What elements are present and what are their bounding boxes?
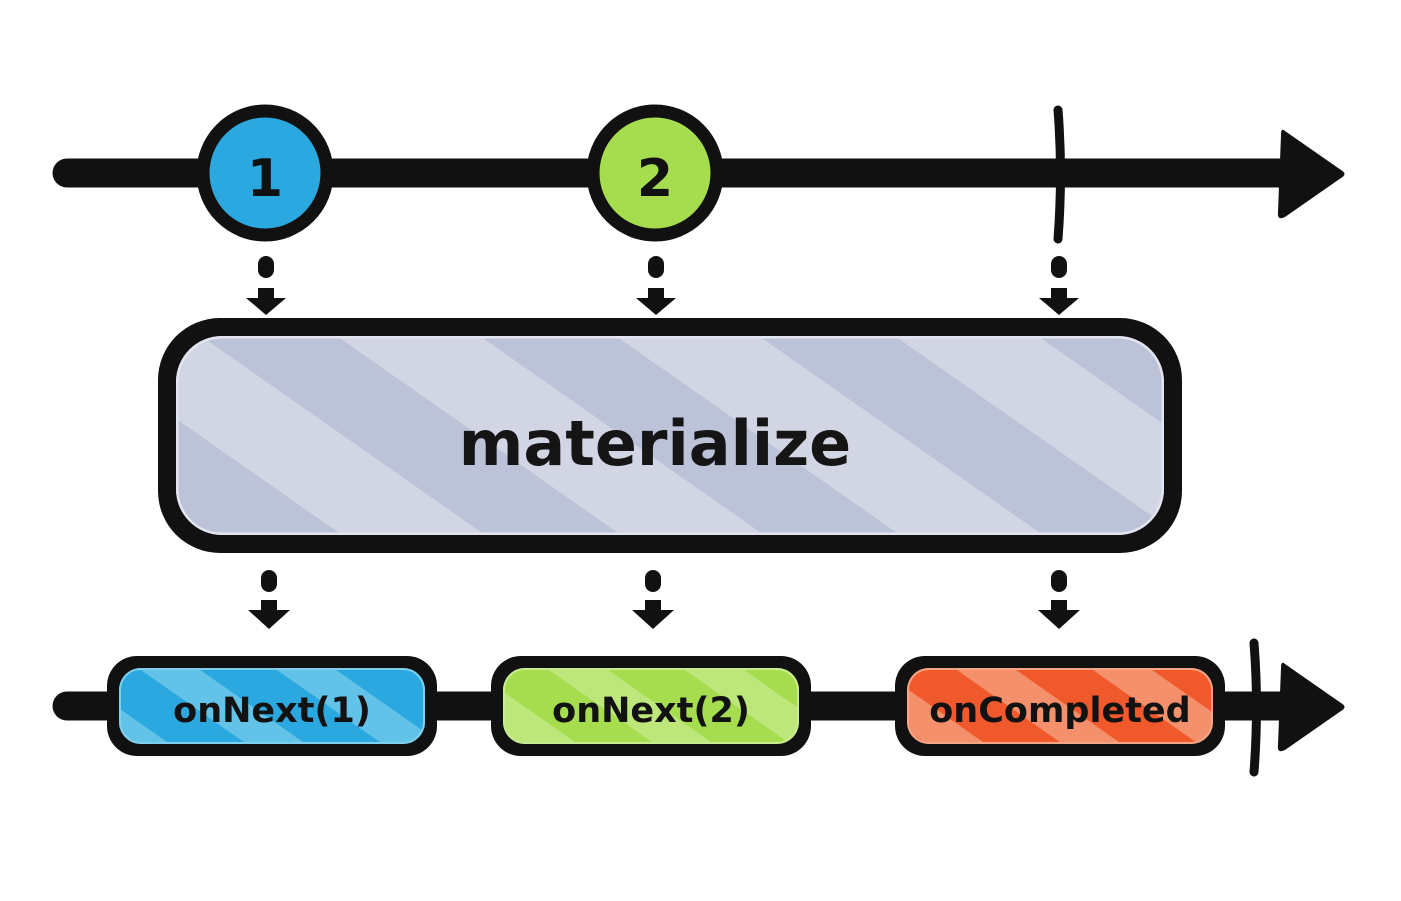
notification-box-1[interactable]: onNext(2)	[491, 656, 811, 756]
source-timeline-arrowhead	[1278, 130, 1345, 219]
input-connectors-group	[246, 256, 1079, 315]
notification-box-1-label: onNext(2)	[552, 691, 750, 731]
source-marble-2[interactable]: 2	[593, 111, 717, 235]
output-connector-3	[1038, 570, 1080, 629]
materialize-operator-box[interactable]: materialize	[158, 318, 1182, 553]
source-marble-2-label: 2	[637, 149, 673, 209]
output-connectors-group	[248, 570, 1080, 629]
source-complete-bar	[1058, 110, 1061, 239]
input-connector-1	[246, 256, 286, 315]
notification-box-0-label: onNext(1)	[173, 691, 371, 731]
result-timeline-group: onNext(1) onNext(2) onCompleted	[67, 643, 1345, 772]
notification-box-2[interactable]: onCompleted	[895, 656, 1225, 756]
source-timeline-group: 1 2	[67, 110, 1345, 239]
notification-box-2-label: onCompleted	[929, 691, 1190, 731]
input-connector-3	[1039, 256, 1079, 315]
notification-box-0[interactable]: onNext(1)	[107, 656, 437, 756]
result-timeline-arrowhead	[1278, 663, 1345, 752]
marble-diagram-canvas: 1 2	[0, 0, 1401, 901]
source-marble-1[interactable]: 1	[203, 111, 327, 235]
operator-box-label: materialize	[459, 407, 851, 480]
result-complete-bar	[1254, 643, 1257, 772]
marble-diagram: 1 2	[0, 0, 1401, 901]
output-connector-1	[248, 570, 290, 629]
source-marble-1-label: 1	[247, 149, 283, 209]
output-connector-2	[632, 570, 674, 629]
input-connector-2	[636, 256, 676, 315]
